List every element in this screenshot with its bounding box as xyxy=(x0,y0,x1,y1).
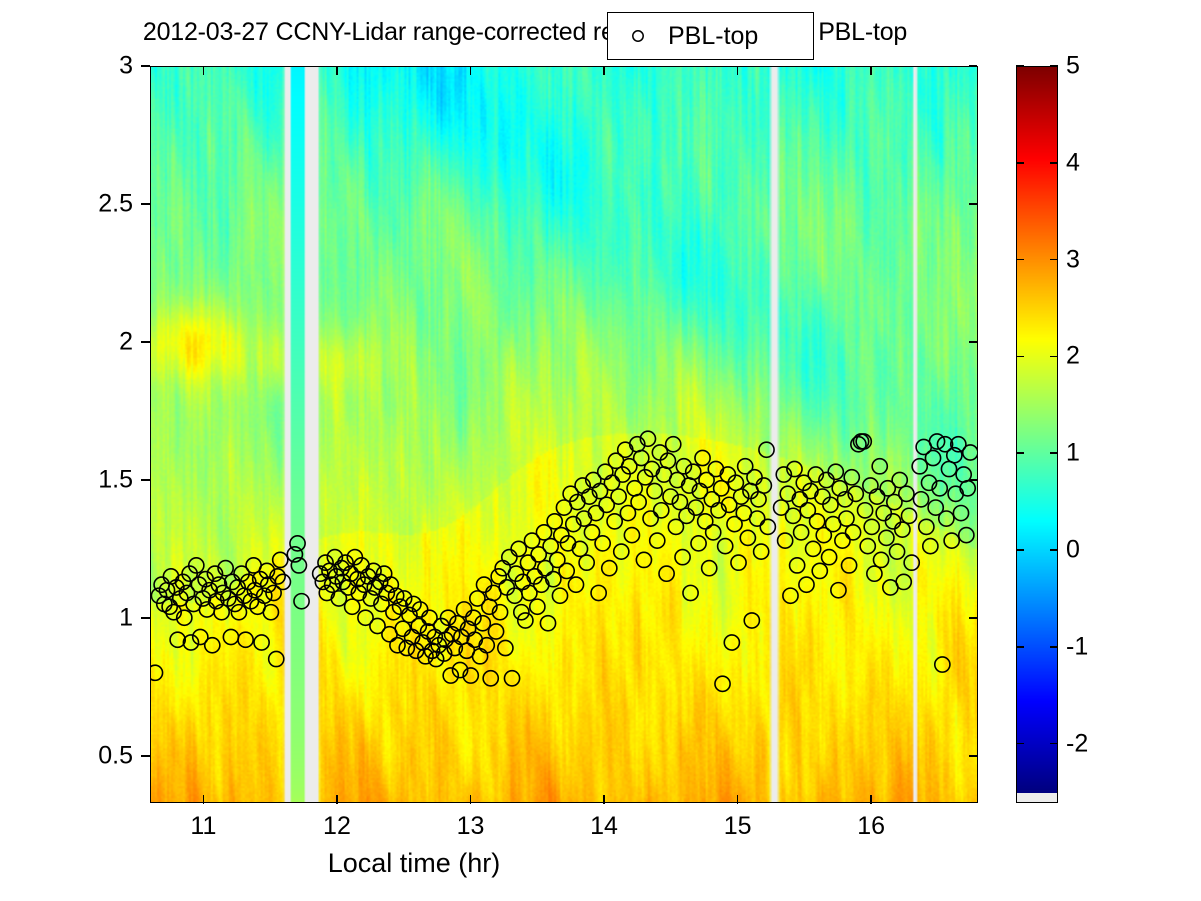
colorbar-tick xyxy=(1016,743,1024,745)
colorbar-gradient xyxy=(1017,67,1057,793)
colorbar-tick-label: 4 xyxy=(1066,148,1080,177)
colorbar-tick-label: -2 xyxy=(1066,729,1088,758)
x-axis-tick-label: 12 xyxy=(323,812,351,841)
x-axis-tick xyxy=(737,66,739,75)
y-axis-tick xyxy=(969,755,977,757)
colorbar-tick xyxy=(1016,259,1024,261)
y-axis-tick-label: 1 xyxy=(119,604,133,633)
colorbar-tick xyxy=(1016,356,1024,358)
chart-title: 2012-03-27 CCNY-Lidar range-corrected re… xyxy=(0,18,1050,47)
legend[interactable]: PBL-top xyxy=(607,12,814,60)
colorbar-tick-label: 1 xyxy=(1066,439,1080,468)
x-axis-tick xyxy=(870,795,872,804)
y-axis-tick xyxy=(141,617,150,619)
y-axis-tick xyxy=(141,479,150,481)
y-axis-tick xyxy=(969,479,977,481)
x-axis-tick xyxy=(336,795,338,804)
x-axis-tick xyxy=(603,66,605,75)
y-axis-tick xyxy=(141,65,150,67)
colorbar-tick xyxy=(1050,162,1058,164)
colorbar-tick xyxy=(1050,356,1058,358)
x-axis-tick xyxy=(603,795,605,804)
colorbar-tick-label: 2 xyxy=(1066,342,1080,371)
x-axis-tick-label: 13 xyxy=(457,812,485,841)
y-axis-tick xyxy=(141,755,150,757)
x-axis-tick xyxy=(737,795,739,804)
heatmap-image xyxy=(151,67,977,802)
x-axis-tick-label: 11 xyxy=(190,812,216,841)
colorbar-tick xyxy=(1016,646,1024,648)
colorbar-tick xyxy=(1016,65,1024,67)
y-axis-tick xyxy=(969,617,977,619)
legend-circle-open-icon xyxy=(608,28,668,44)
y-axis-tick-label: 1.5 xyxy=(98,466,133,495)
x-axis-tick xyxy=(470,66,472,75)
x-axis-tick xyxy=(470,795,472,804)
x-axis-tick-label: 14 xyxy=(590,812,618,841)
colorbar-tick-label: 0 xyxy=(1066,536,1080,565)
x-axis-tick xyxy=(203,66,205,75)
colorbar-tick xyxy=(1050,259,1058,261)
x-axis-tick-label: 16 xyxy=(857,812,885,841)
y-axis-tick-label: 0.5 xyxy=(98,742,133,771)
colorbar-tick xyxy=(1016,549,1024,551)
x-axis-tick xyxy=(203,795,205,804)
colorbar-tick xyxy=(1050,743,1058,745)
x-axis-tick-label: 15 xyxy=(724,812,752,841)
colorbar-tick xyxy=(1050,452,1058,454)
y-axis-tick-label: 3 xyxy=(119,52,133,81)
y-axis-tick xyxy=(141,203,150,205)
colorbar-tick xyxy=(1050,549,1058,551)
colorbar[interactable] xyxy=(1016,66,1058,803)
colorbar-tick xyxy=(1016,452,1024,454)
colorbar-tick-label: 3 xyxy=(1066,245,1080,274)
x-axis-title: Local time (hr) xyxy=(328,848,501,879)
y-axis-tick xyxy=(969,341,977,343)
y-axis-tick xyxy=(969,203,977,205)
colorbar-tick xyxy=(1050,65,1058,67)
y-axis-tick-label: 2 xyxy=(119,328,133,357)
colorbar-tick xyxy=(1016,162,1024,164)
colorbar-tick-label: 5 xyxy=(1066,52,1080,81)
x-axis-tick xyxy=(870,66,872,75)
legend-label-pbl-top: PBL-top xyxy=(668,22,758,51)
colorbar-tick xyxy=(1050,646,1058,648)
plot-area[interactable] xyxy=(150,66,978,803)
y-axis-tick xyxy=(969,65,977,67)
y-axis-tick xyxy=(141,341,150,343)
colorbar-tick-label: -1 xyxy=(1066,632,1088,661)
y-axis-tick-label: 2.5 xyxy=(98,190,133,219)
x-axis-tick xyxy=(336,66,338,75)
